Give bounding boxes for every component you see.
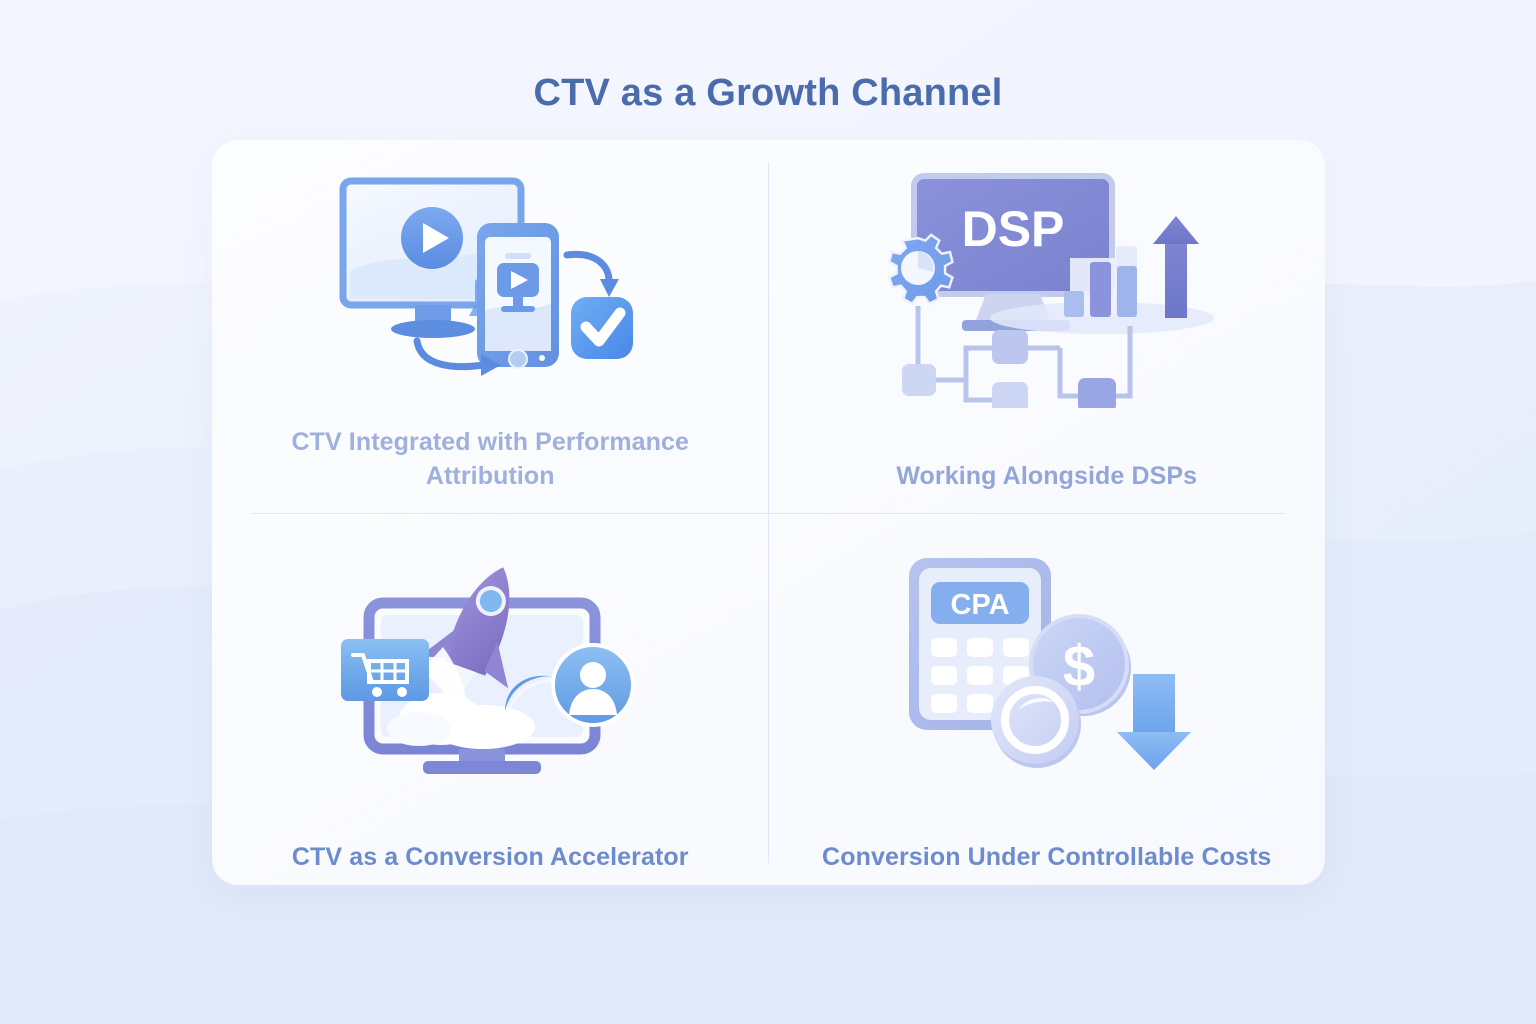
- quadrant-card: CTV Integrated with Performance Attribut…: [212, 140, 1325, 885]
- cpa-display-text: CPA: [950, 589, 1009, 621]
- quadrant-ctv-conversion-accelerator[interactable]: CTV as a Conversion Accelerator: [212, 513, 769, 886]
- quadrant-working-alongside-dsps[interactable]: DSP: [769, 140, 1326, 513]
- tv-phone-checkmark-icon: [325, 158, 655, 408]
- dsp-monitor-chart-icon: DSP: [874, 158, 1219, 408]
- quadrant-ctv-performance-attribution[interactable]: CTV Integrated with Performance Attribut…: [212, 140, 769, 513]
- quadrant-conversion-controllable-costs[interactable]: CPA $: [769, 513, 1326, 886]
- calculator-coins-arrow-icon: CPA $: [887, 541, 1207, 791]
- page-title: CTV as a Growth Channel: [0, 72, 1536, 115]
- quadrant-label: Working Alongside DSPs: [878, 460, 1215, 494]
- rocket-monitor-cart-icon: [323, 541, 658, 791]
- dsp-screen-text: DSP: [962, 201, 1065, 257]
- quadrant-label: CTV as a Conversion Accelerator: [274, 841, 707, 875]
- quadrant-label: CTV Integrated with Performance Attribut…: [212, 426, 769, 493]
- dollar-symbol: $: [1063, 634, 1095, 699]
- quadrant-label: Conversion Under Controllable Costs: [804, 841, 1289, 875]
- horizontal-divider: [252, 513, 1285, 514]
